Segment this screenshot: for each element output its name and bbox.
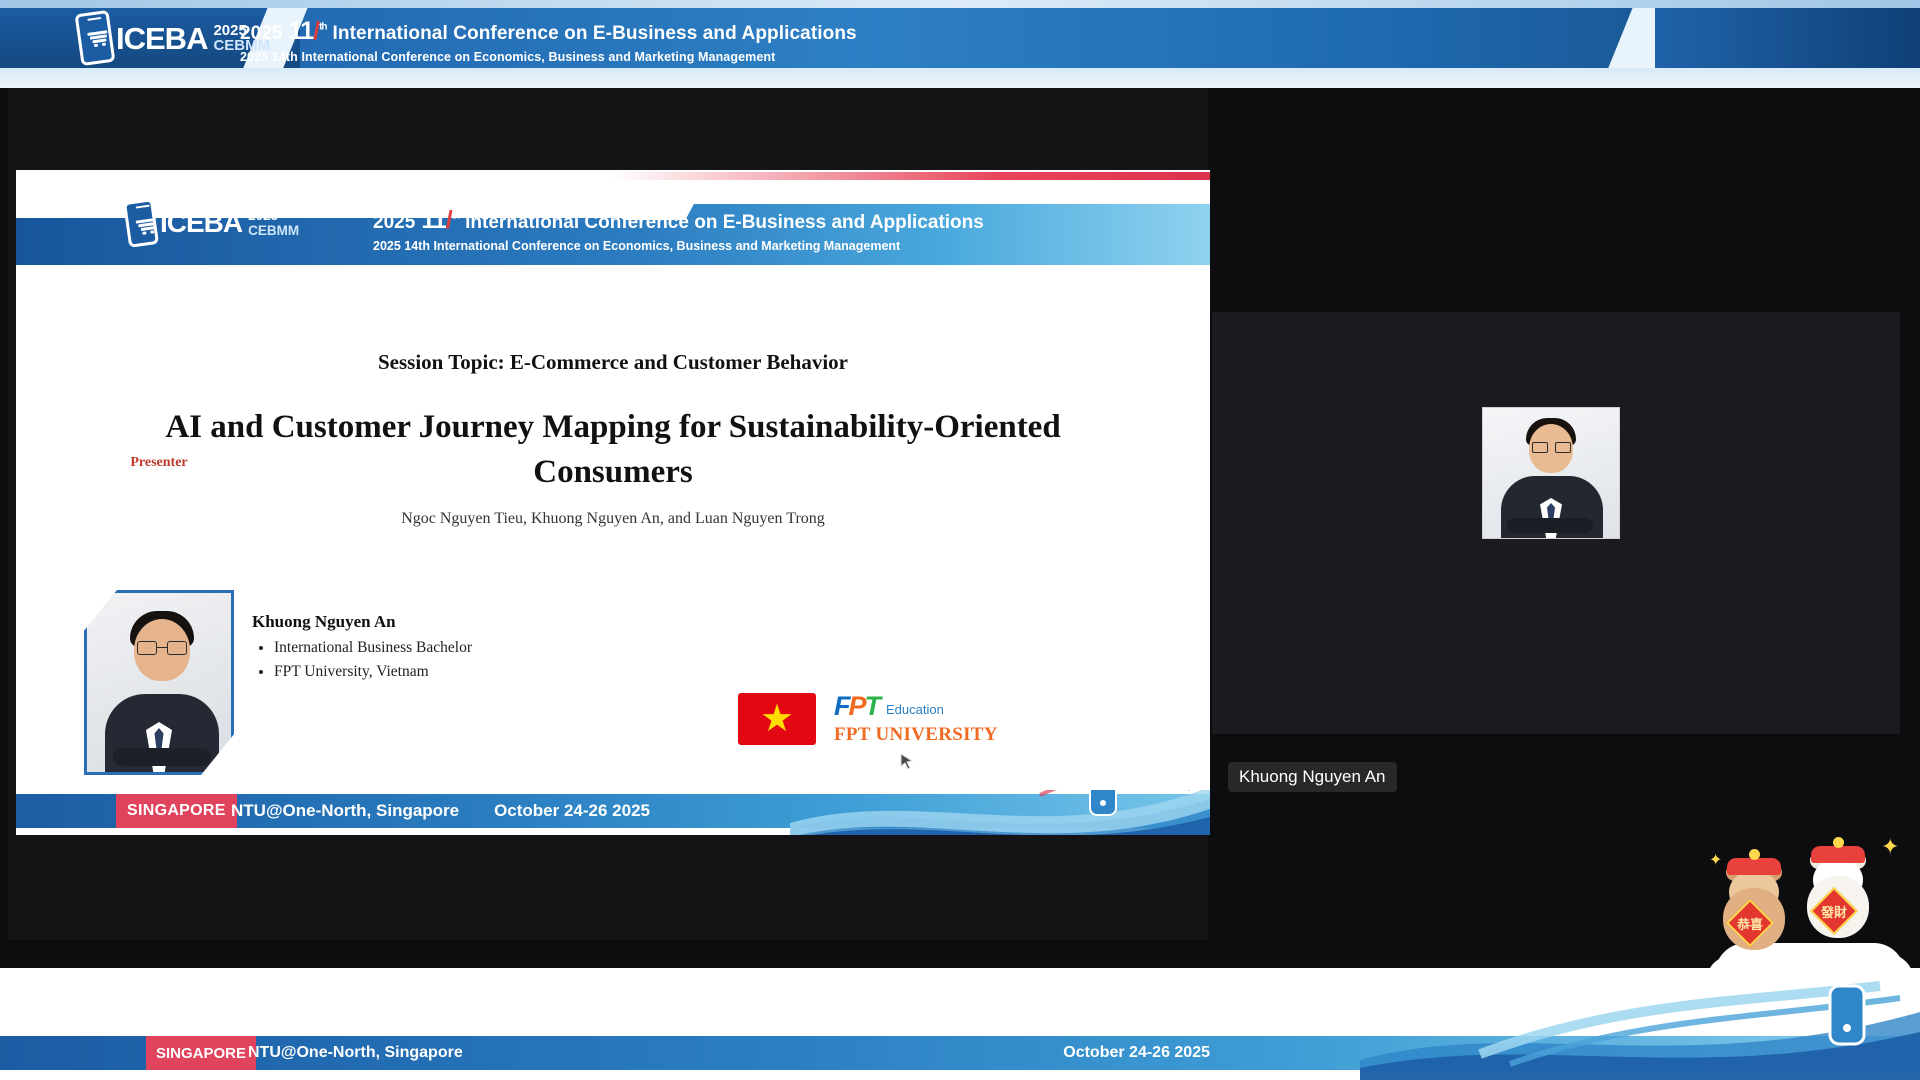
sparkle-icon: ✦ <box>1881 834 1899 860</box>
mascot-bear-left: 恭喜 <box>1717 862 1791 954</box>
slide-logo-sub: CEBMM <box>248 223 299 238</box>
page-footer-country: SINGAPORE <box>146 1036 256 1070</box>
presenter-name: Khuong Nguyen An <box>252 612 472 632</box>
slide-header-ordinal-number: 11 <box>421 206 445 234</box>
banner-year: 2025 <box>240 23 283 45</box>
presenter-photo <box>84 590 234 775</box>
bear-hat <box>1727 858 1781 875</box>
presenter-bullets: International Business Bachelor FPT Univ… <box>252 636 472 684</box>
fpt-wordmark: FPT <box>834 693 879 720</box>
screen-share-area[interactable]: ICEBA 2025 CEBMM 2025 11/th Internationa… <box>8 88 1208 940</box>
meeting-stage: ICEBA 2025 CEBMM 2025 11/th Internationa… <box>0 88 1920 968</box>
banner-right-block <box>1655 8 1920 70</box>
slide-header-titles: 2025 11/th International Conference on E… <box>373 206 984 253</box>
mascot-bear-right: 發財 <box>1801 850 1875 942</box>
lucky-card-text: 恭喜 <box>1735 908 1765 938</box>
banner-conference-name: International Conference on E-Business a… <box>333 23 857 45</box>
page-footer-swoosh-graphic <box>1360 968 1920 1080</box>
fpt-education-label: Education <box>886 702 944 720</box>
top-conference-banner: ICEBA 2025 CEBMM 2025 11/th Internationa… <box>0 0 1920 88</box>
bear-hat <box>1811 846 1865 863</box>
banner-ordinal-suffix: th <box>319 22 326 33</box>
phone-cart-icon <box>75 10 116 66</box>
slide-header-ordinal: 11/th <box>421 206 459 235</box>
cart-icon <box>134 217 160 236</box>
page-footer-venue: NTU@One-North, Singapore <box>248 1036 463 1070</box>
presenter-info: Khuong Nguyen An International Business … <box>252 612 472 684</box>
cart-icon <box>85 29 111 48</box>
avatar-arms <box>1507 518 1593 533</box>
slide-footer-swoosh-graphic <box>790 790 1210 835</box>
slide-header-conference-name: International Conference on E-Business a… <box>465 212 984 234</box>
fpt-university-label: FPT UNIVERSITY <box>834 724 1034 746</box>
slide-logo-stack: 2025 CEBMM <box>248 208 299 238</box>
slide-footer-venue: NTU@One-North, Singapore <box>231 794 459 828</box>
list-item: International Business Bachelor <box>274 636 472 660</box>
flag-star-icon: ★ <box>760 700 794 738</box>
slide-footer: SINGAPORE NTU@One-North, Singapore Octob… <box>16 790 1210 835</box>
slide-header-red-accent <box>16 172 1210 180</box>
presentation-slide[interactable]: ICEBA 2025 CEBMM 2025 11/th Internationa… <box>16 170 1210 835</box>
banner-ordinal-number: 11 <box>289 17 313 45</box>
fpt-letter-p: P <box>849 693 865 720</box>
slide-footer-dates: October 24-26 2025 <box>494 794 650 828</box>
fpt-logo: FPT Education FPT UNIVERSITY <box>834 693 1034 746</box>
paper-title: AI and Customer Journey Mapping for Sust… <box>106 405 1120 494</box>
presenter-card: Khuong Nguyen An International Business … <box>84 590 504 790</box>
page-footer: SINGAPORE NTU@One-North, Singapore Octob… <box>0 968 1920 1080</box>
participant-avatar <box>1482 407 1620 539</box>
logo-name: ICEBA <box>116 23 207 54</box>
slide-header-line1: 2025 11/th International Conference on E… <box>373 206 984 235</box>
slide-header: ICEBA 2025 CEBMM 2025 11/th Internationa… <box>16 170 1210 265</box>
slide-header-line2: 2025 14th International Conference on Ec… <box>373 239 984 253</box>
slide-header-ordinal-suffix: th <box>452 211 459 222</box>
phone-cart-icon <box>123 198 159 248</box>
list-item: FPT University, Vietnam <box>274 660 472 684</box>
vietnam-flag: ★ <box>738 693 816 745</box>
expand-collapse-icon[interactable] <box>1140 180 1162 202</box>
session-topic: Session Topic: E-Commerce and Customer B… <box>16 350 1210 375</box>
slide-footer-country: SINGAPORE <box>116 794 237 828</box>
fpt-letter-t: T <box>865 693 880 720</box>
participant-name-label: Khuong Nguyen An <box>1228 762 1397 792</box>
fpt-logo-row: FPT Education <box>834 693 1034 720</box>
glasses-icon <box>1532 442 1571 453</box>
presenter-arms <box>113 748 211 766</box>
mouse-cursor-icon <box>900 753 914 771</box>
banner-title-line1: 2025 11/th International Conference on E… <box>240 17 857 46</box>
author-list: Ngoc Nguyen Tieu, Khuong Nguyen An, and … <box>16 510 1210 528</box>
lucky-card-text: 發財 <box>1819 896 1849 926</box>
slide-body: Session Topic: E-Commerce and Customer B… <box>16 265 1210 790</box>
slide-logo-year: 2025 <box>248 208 299 223</box>
banner-sheen-bottom <box>0 68 1920 88</box>
page-footer-dates: October 24-26 2025 <box>1063 1036 1210 1070</box>
banner-title-line2: 2025 14th International Conference on Ec… <box>240 50 857 64</box>
slide-iceba-logo: ICEBA 2025 CEBMM <box>126 200 299 246</box>
slide-header-year: 2025 <box>373 212 415 234</box>
slide-logo-name: ICEBA <box>160 209 242 237</box>
fpt-letter-f: F <box>834 693 849 720</box>
banner-titles: 2025 11/th International Conference on E… <box>240 17 857 64</box>
glasses-icon <box>137 641 187 655</box>
presenter-role-label: Presenter <box>84 455 234 471</box>
banner-ordinal: 11/th <box>289 17 327 46</box>
